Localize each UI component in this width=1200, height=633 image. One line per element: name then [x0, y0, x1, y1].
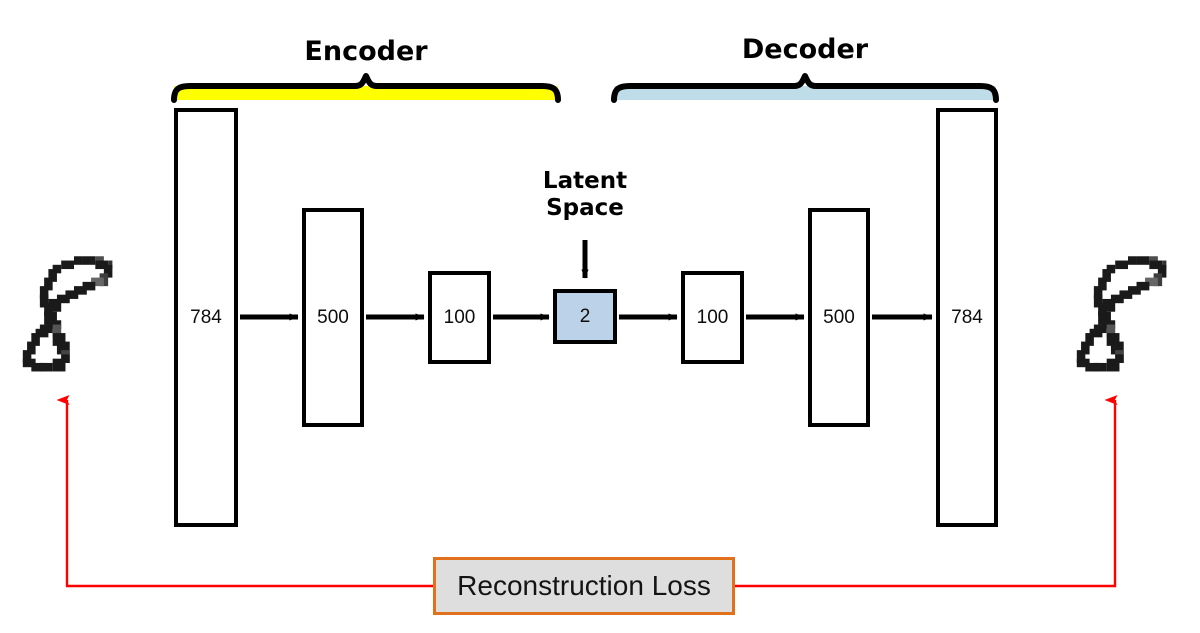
- encoder-hidden-500-box[interactable]: 500: [302, 208, 364, 427]
- latent-2-label: 2: [580, 307, 591, 326]
- reconstruction-loss-box[interactable]: Reconstruction Loss: [433, 557, 735, 615]
- encoder-brace: [174, 76, 558, 100]
- decoder-hidden-100-box[interactable]: 100: [681, 271, 744, 364]
- encoder-group-label: Encoder: [266, 36, 466, 67]
- latent-space-label-line1: Latent: [485, 168, 685, 195]
- decoder-output-784-box[interactable]: 784: [936, 108, 998, 527]
- decoder-hidden-500-box[interactable]: 500: [808, 208, 870, 427]
- encoder-hidden-100-box[interactable]: 100: [428, 271, 491, 364]
- loss-line-left: [67, 400, 433, 586]
- latent-space-label: Latent Space: [485, 168, 685, 222]
- decoder-group-label: Decoder: [705, 34, 905, 65]
- decoder-hidden-500-label: 500: [823, 308, 855, 327]
- encoder-input-784-label: 784: [190, 308, 222, 327]
- encoder-hidden-100-label: 100: [444, 308, 476, 327]
- latent-space-label-line2: Space: [485, 195, 685, 222]
- decoder-brace: [614, 76, 996, 100]
- decoder-hidden-100-label: 100: [697, 308, 729, 327]
- encoder-input-784-box[interactable]: 784: [174, 108, 238, 527]
- encoder-hidden-500-label: 500: [317, 308, 349, 327]
- autoencoder-diagram: Encoder Decoder Latent Space 784 500 100…: [0, 0, 1200, 633]
- reconstruction-loss-label: Reconstruction Loss: [457, 570, 711, 602]
- output-digit-image: [1068, 252, 1188, 380]
- input-digit-image: [14, 252, 134, 380]
- loss-line-right: [735, 400, 1115, 586]
- latent-2-box[interactable]: 2: [553, 289, 617, 344]
- decoder-output-784-label: 784: [951, 308, 983, 327]
